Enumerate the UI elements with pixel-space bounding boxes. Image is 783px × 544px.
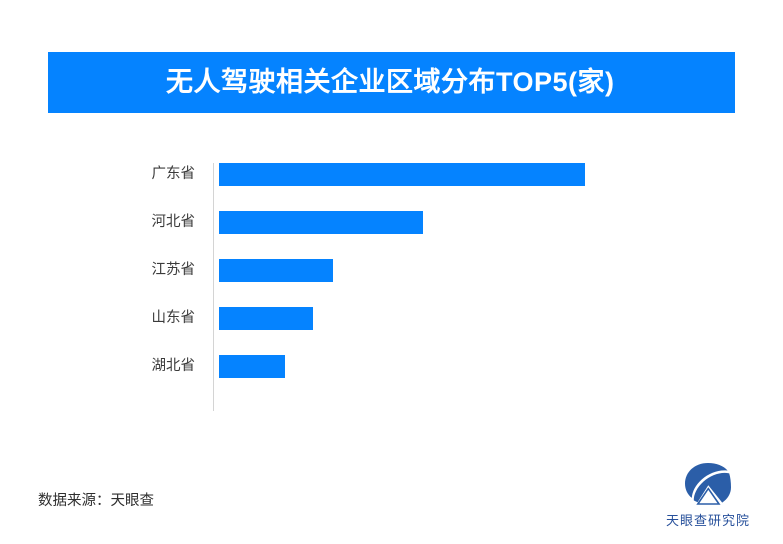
bar	[219, 163, 585, 186]
chart-row: 江苏省	[0, 259, 783, 282]
title-banner: 无人驾驶相关企业区域分布TOP5(家)	[48, 52, 735, 113]
brand-logo: 天眼查研究院	[656, 461, 760, 533]
bar	[219, 259, 333, 282]
bar	[219, 211, 423, 234]
chart-row: 山东省	[0, 307, 783, 330]
data-source-note: 数据来源：天眼查	[38, 489, 154, 510]
chart-page: 无人驾驶相关企业区域分布TOP5(家) 广东省 河北省 江苏省 山东省 湖北省 …	[0, 0, 783, 544]
category-label: 江苏省	[152, 259, 196, 282]
brand-logo-text: 天眼查研究院	[666, 510, 750, 529]
category-label: 山东省	[152, 307, 196, 330]
category-label: 广东省	[152, 163, 196, 186]
category-label: 湖北省	[152, 355, 196, 378]
chart-row: 河北省	[0, 211, 783, 234]
category-label: 河北省	[152, 211, 196, 234]
bar	[219, 307, 313, 330]
eagle-emblem-icon	[682, 461, 734, 507]
chart-row: 广东省	[0, 163, 783, 186]
bar	[219, 355, 285, 378]
chart-row: 湖北省	[0, 355, 783, 378]
page-title: 无人驾驶相关企业区域分布TOP5(家)	[166, 69, 615, 96]
bar-chart: 广东省 河北省 江苏省 山东省 湖北省	[0, 155, 783, 415]
